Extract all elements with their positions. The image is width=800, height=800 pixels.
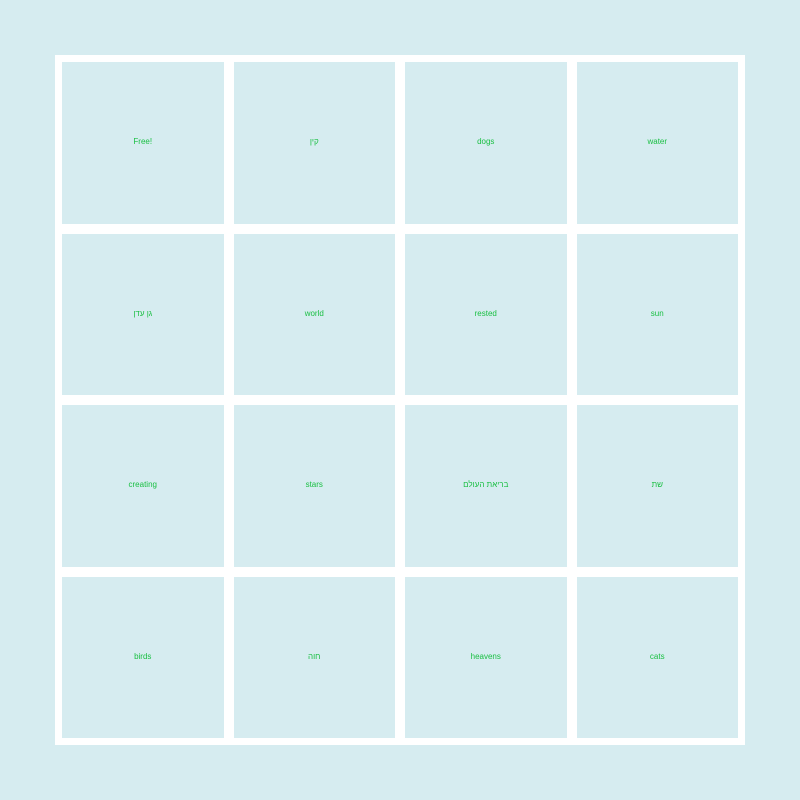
bingo-cell[interactable]: birds: [62, 577, 224, 739]
bingo-cell-label: Free!: [64, 138, 222, 147]
bingo-cell[interactable]: גן עדן: [62, 234, 224, 396]
bingo-cell[interactable]: dogs: [405, 62, 567, 224]
bingo-cell[interactable]: קין: [234, 62, 396, 224]
bingo-cell[interactable]: שת: [577, 405, 739, 567]
bingo-cell[interactable]: חוה: [234, 577, 396, 739]
bingo-card: Free!קיןdogswaterגן עדןworldrestedsuncre…: [55, 55, 745, 745]
bingo-cell-label: dogs: [407, 138, 565, 147]
bingo-cell-label: sun: [579, 310, 737, 319]
bingo-cell-label: בריאת העולם: [407, 481, 565, 490]
bingo-cell-label: rested: [407, 310, 565, 319]
bingo-cell-label: heavens: [407, 653, 565, 662]
bingo-cell[interactable]: water: [577, 62, 739, 224]
bingo-cell-label: birds: [64, 653, 222, 662]
bingo-cell-label: חוה: [236, 653, 394, 662]
bingo-cell-label: creating: [64, 481, 222, 490]
bingo-cell-label: stars: [236, 481, 394, 490]
bingo-cell-label: שת: [579, 481, 737, 490]
bingo-cell[interactable]: heavens: [405, 577, 567, 739]
bingo-cell[interactable]: world: [234, 234, 396, 396]
bingo-cell[interactable]: בריאת העולם: [405, 405, 567, 567]
bingo-cell[interactable]: sun: [577, 234, 739, 396]
bingo-cell[interactable]: stars: [234, 405, 396, 567]
bingo-cell-label: גן עדן: [64, 310, 222, 319]
bingo-cell-label: קין: [236, 138, 394, 147]
bingo-cell-label: cats: [579, 653, 737, 662]
bingo-cell[interactable]: creating: [62, 405, 224, 567]
bingo-cell-free[interactable]: Free!: [62, 62, 224, 224]
bingo-cell-label: world: [236, 310, 394, 319]
bingo-cell-label: water: [579, 138, 737, 147]
bingo-cell[interactable]: rested: [405, 234, 567, 396]
bingo-cell[interactable]: cats: [577, 577, 739, 739]
